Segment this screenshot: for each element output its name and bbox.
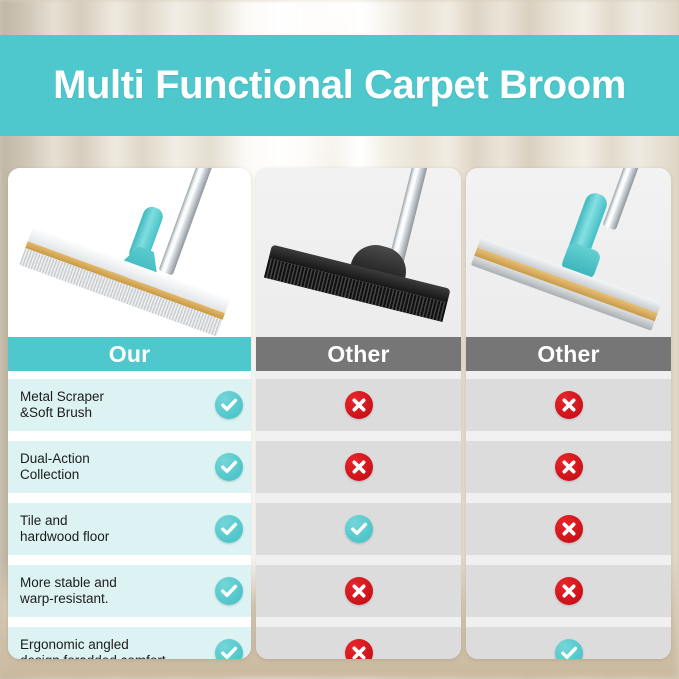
check-circle-icon [215,515,243,543]
table-row [466,441,671,493]
table-row: More stable and warp-resistant. [8,565,251,617]
broom-pole [158,168,218,276]
product-image-other-1 [256,168,461,337]
table-row [256,565,461,617]
cross-circle-icon [345,639,373,659]
column-header-other-1: Other [256,337,461,371]
title-banner: Multi Functional Carpet Broom [0,35,679,136]
broom-head [19,227,230,336]
cross-circle-icon [345,577,373,605]
feature-label: Metal Scraper &Soft Brush [20,389,104,421]
cross-circle-icon [345,453,373,481]
feature-rows-other-1 [256,371,461,659]
table-row: Metal Scraper &Soft Brush [8,379,251,431]
table-row [256,441,461,493]
table-row: Dual-Action Collection [8,441,251,493]
feature-rows-ours: Metal Scraper &Soft Brush Dual-Action Co… [8,371,251,659]
comparison-table: Our Metal Scraper &Soft Brush Dual-Actio… [8,168,671,659]
cross-circle-icon [555,515,583,543]
table-row: Ergonomic angled design foradded comfort [8,627,251,659]
table-row [256,627,461,659]
check-circle-icon [215,391,243,419]
check-circle-icon [215,639,243,659]
feature-label: Tile and hardwood floor [20,513,109,545]
check-circle-icon [345,515,373,543]
product-image-other-2 [466,168,671,337]
table-row [466,379,671,431]
feature-label: Dual-Action Collection [20,451,90,483]
cross-circle-icon [555,391,583,419]
column-header-other-2: Other [466,337,671,371]
table-row [256,379,461,431]
table-row: Tile and hardwood floor [8,503,251,555]
feature-rows-other-2 [466,371,671,659]
cross-circle-icon [555,577,583,605]
product-image-ours [8,168,251,337]
broom-head-scraper [25,241,225,319]
feature-label: Ergonomic angled design foradded comfort [20,637,166,659]
check-circle-icon [555,639,583,659]
feature-label: More stable and warp-resistant. [20,575,117,607]
table-row [466,503,671,555]
comparison-column-other-2: Other [466,168,671,659]
table-row [256,503,461,555]
check-circle-icon [215,577,243,605]
table-row [466,565,671,617]
page-title: Multi Functional Carpet Broom [53,63,626,108]
column-header-ours: Our [8,337,251,371]
comparison-column-ours: Our Metal Scraper &Soft Brush Dual-Actio… [8,168,251,659]
check-circle-icon [215,453,243,481]
comparison-column-other-1: Other [256,168,461,659]
table-row [466,627,671,659]
broom-pole [602,168,648,230]
cross-circle-icon [345,391,373,419]
cross-circle-icon [555,453,583,481]
